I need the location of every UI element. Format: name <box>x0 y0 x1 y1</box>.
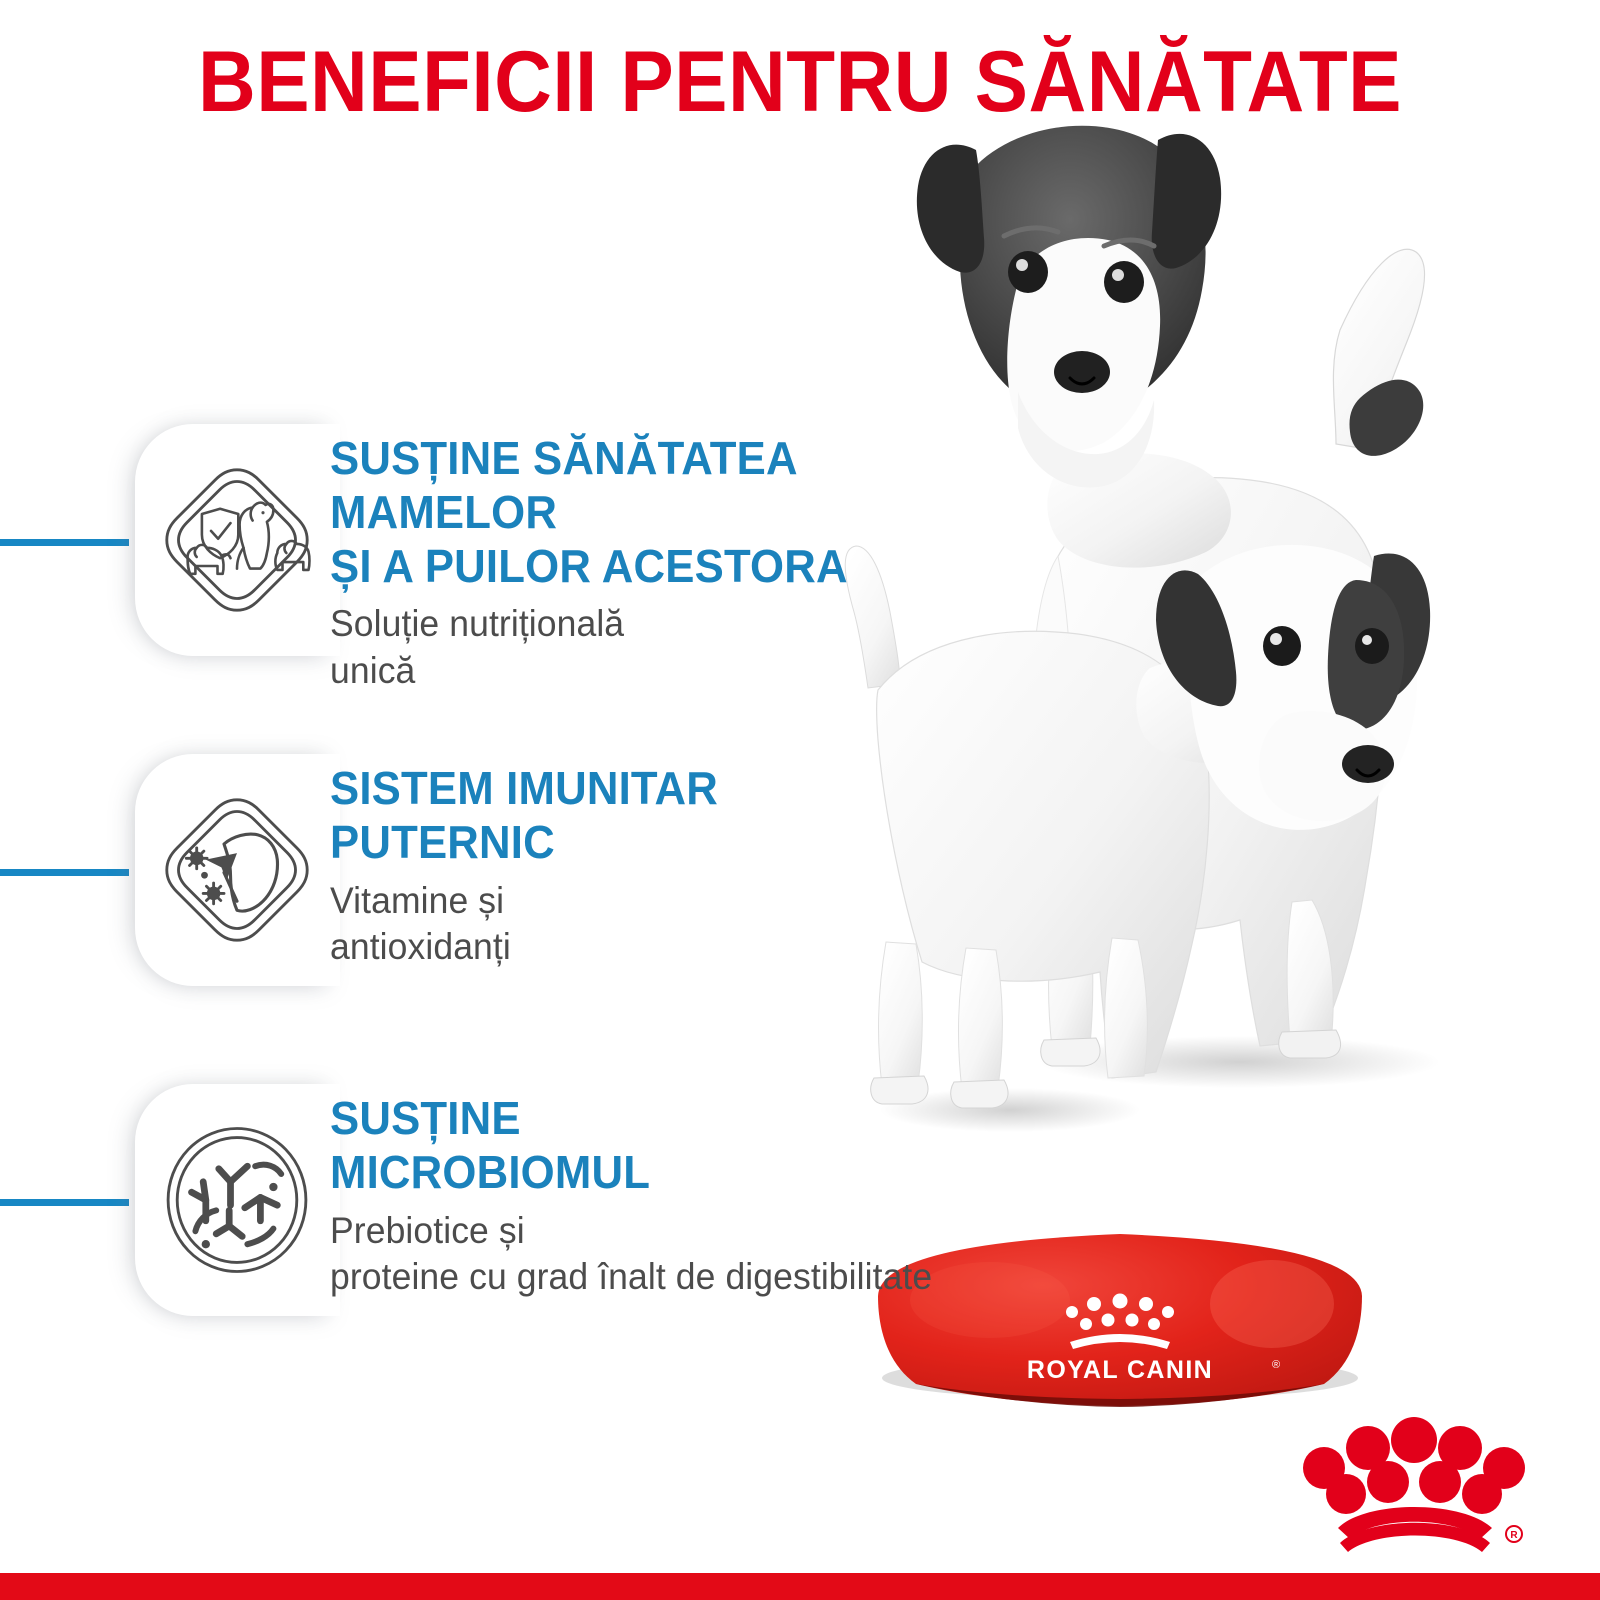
bowl-brand-text: ROYAL CANIN <box>1027 1356 1213 1384</box>
bottom-red-bar <box>0 1573 1600 1600</box>
benefit-subtext-3: Prebiotice și proteine cu grad înalt de … <box>330 1208 954 1301</box>
bacteria-shapes <box>192 1166 278 1236</box>
benefit-text-3: SUSȚINE MICROBIOMUL Prebiotice și protei… <box>330 1092 980 1301</box>
icon-card-3 <box>135 1084 340 1316</box>
bowl-trademark: ® <box>1272 1359 1280 1371</box>
mother-and-puppies-shield-icon <box>159 462 315 618</box>
svg-text:R: R <box>1510 1530 1518 1541</box>
benefit-heading-3: SUSȚINE MICROBIOMUL <box>330 1092 948 1200</box>
royal-canin-crown-logo: R <box>1302 1412 1532 1557</box>
adult-dog-shadow <box>1040 1036 1440 1088</box>
connector-line-3 <box>0 1199 129 1206</box>
registered-trademark: R <box>1506 1526 1522 1542</box>
immune-shield-germs-icon <box>159 792 315 948</box>
icon-card-2 <box>135 754 340 986</box>
connector-line-2 <box>0 869 129 876</box>
crown-dots <box>1303 1417 1525 1514</box>
microbiome-bacteria-icon <box>159 1122 315 1278</box>
crown-arcs <box>1338 1507 1492 1552</box>
puppy-head <box>1156 545 1430 830</box>
benefit-subtext-1: Soluție nutrițională unică <box>330 601 954 694</box>
bowl-crown-icon <box>1066 1294 1174 1350</box>
connector-line-1 <box>0 539 129 546</box>
benefit-text-2: SISTEM IMUNITAR PUTERNIC Vitamine și ant… <box>330 762 980 971</box>
icon-card-1 <box>135 424 340 656</box>
benefit-subtext-2: Vitamine și antioxidanți <box>330 878 954 971</box>
benefits-list: SUSȚINE SĂNĂTATEA MAMELOR ȘI A PUILOR AC… <box>0 0 1000 1600</box>
benefit-heading-2: SISTEM IMUNITAR PUTERNIC <box>330 762 948 870</box>
benefit-heading-1: SUSȚINE SĂNĂTATEA MAMELOR ȘI A PUILOR AC… <box>330 432 948 593</box>
benefit-text-1: SUSȚINE SĂNĂTATEA MAMELOR ȘI A PUILOR AC… <box>330 432 980 695</box>
